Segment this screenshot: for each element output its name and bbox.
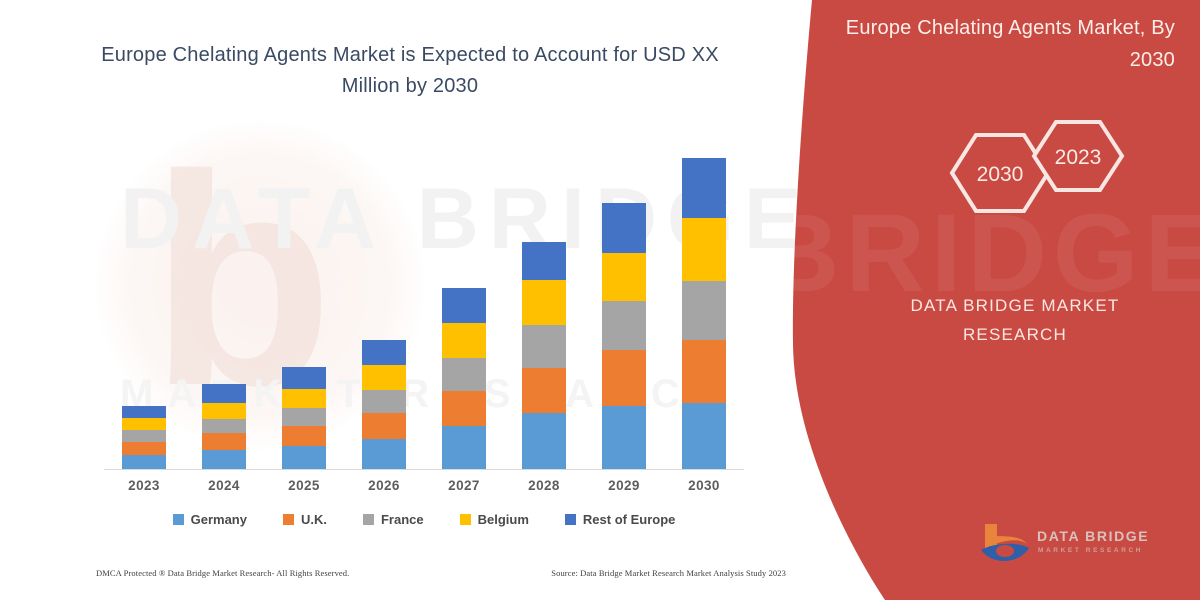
legend-item-germany[interactable]: Germany xyxy=(173,512,247,527)
bar-segment-belgium-2028 xyxy=(522,280,566,325)
legend-item-rest-of-europe[interactable]: Rest of Europe xyxy=(565,512,675,527)
bar-segment-rest-of-europe-2028 xyxy=(522,242,566,280)
legend-label: Germany xyxy=(191,512,247,527)
bar-segment-u-k--2027 xyxy=(442,391,486,426)
bar-segment-u-k--2030 xyxy=(682,340,726,403)
bar-segment-rest-of-europe-2023 xyxy=(122,406,166,418)
x-axis-tick-labels: 20232024202520262027202820292030 xyxy=(104,478,744,498)
bar-segment-rest-of-europe-2024 xyxy=(202,384,246,403)
bar-segment-belgium-2030 xyxy=(682,218,726,281)
bar-segment-belgium-2025 xyxy=(282,389,326,408)
bar-segment-rest-of-europe-2025 xyxy=(282,367,326,389)
bar-segment-france-2024 xyxy=(202,419,246,433)
bar-segment-belgium-2026 xyxy=(362,365,406,390)
hexagon-2023-label: 2023 xyxy=(1055,146,1102,169)
legend-swatch-icon xyxy=(565,514,576,525)
bar-segment-rest-of-europe-2027 xyxy=(442,288,486,323)
bar-segment-france-2028 xyxy=(522,325,566,368)
logo-tagline: MARKET RESEARCH xyxy=(1038,547,1143,554)
bar-segment-u-k--2026 xyxy=(362,413,406,439)
x-label-2025: 2025 xyxy=(269,478,339,493)
data-bridge-logo: DATA BRIDGE MARKET RESEARCH xyxy=(975,518,1190,576)
legend-label: U.K. xyxy=(301,512,327,527)
legend-label: Belgium xyxy=(478,512,529,527)
legend-item-belgium[interactable]: Belgium xyxy=(460,512,529,527)
infographic-canvas: b DATA BRIDGE MARKET RESEARCH Europe Che… xyxy=(0,0,1200,600)
bar-2029 xyxy=(602,203,646,469)
bar-segment-u-k--2025 xyxy=(282,426,326,446)
legend-swatch-icon xyxy=(460,514,471,525)
footer-source-text: Source: Data Bridge Market Research Mark… xyxy=(551,568,786,578)
legend-item-u-k-[interactable]: U.K. xyxy=(283,512,327,527)
bar-2027 xyxy=(442,288,486,469)
bar-segment-germany-2025 xyxy=(282,446,326,469)
bar-segment-belgium-2027 xyxy=(442,323,486,358)
panel-brand-line-2: RESEARCH xyxy=(850,321,1180,350)
bar-segment-germany-2023 xyxy=(122,455,166,469)
bar-segment-germany-2026 xyxy=(362,439,406,469)
bar-segment-germany-2028 xyxy=(522,413,566,469)
legend-swatch-icon xyxy=(173,514,184,525)
legend-swatch-icon xyxy=(283,514,294,525)
hexagon-year-badges: 2030 2023 xyxy=(930,118,1190,228)
chart-legend: GermanyU.K.FranceBelgiumRest of Europe xyxy=(104,512,744,527)
bar-segment-france-2027 xyxy=(442,358,486,391)
bar-segment-rest-of-europe-2026 xyxy=(362,340,406,365)
bar-segment-rest-of-europe-2029 xyxy=(602,203,646,253)
bar-segment-france-2026 xyxy=(362,390,406,413)
x-label-2030: 2030 xyxy=(669,478,739,493)
logo-wordmark: DATA BRIDGE xyxy=(1037,528,1149,544)
bar-segment-belgium-2024 xyxy=(202,403,246,419)
bar-segment-germany-2027 xyxy=(442,426,486,469)
bar-segment-u-k--2029 xyxy=(602,350,646,406)
footer: DMCA Protected ® Data Bridge Market Rese… xyxy=(96,568,786,578)
x-label-2028: 2028 xyxy=(509,478,579,493)
bar-segment-france-2030 xyxy=(682,281,726,340)
bar-segment-u-k--2024 xyxy=(202,433,246,450)
bar-2028 xyxy=(522,242,566,469)
bar-2030 xyxy=(682,158,726,469)
footer-dmca-text: DMCA Protected ® Data Bridge Market Rese… xyxy=(96,568,349,578)
bar-2026 xyxy=(362,340,406,469)
legend-label: Rest of Europe xyxy=(583,512,675,527)
chart-plot-area xyxy=(104,140,744,470)
bar-segment-belgium-2023 xyxy=(122,418,166,430)
bar-segment-germany-2030 xyxy=(682,403,726,469)
stacked-bar-chart xyxy=(104,140,744,470)
bar-2024 xyxy=(202,384,246,469)
x-label-2027: 2027 xyxy=(429,478,499,493)
legend-label: France xyxy=(381,512,424,527)
bar-segment-rest-of-europe-2030 xyxy=(682,158,726,218)
bar-segment-france-2029 xyxy=(602,301,646,350)
panel-brand-line-1: DATA BRIDGE MARKET xyxy=(850,292,1180,321)
bar-segment-germany-2029 xyxy=(602,406,646,469)
bar-segment-u-k--2023 xyxy=(122,442,166,455)
bar-segment-belgium-2029 xyxy=(602,253,646,301)
panel-title: Europe Chelating Agents Market, By 2030 xyxy=(820,12,1175,76)
bar-segment-germany-2024 xyxy=(202,450,246,469)
bar-segment-u-k--2028 xyxy=(522,368,566,413)
x-label-2024: 2024 xyxy=(189,478,259,493)
bar-segment-france-2023 xyxy=(122,430,166,442)
x-label-2029: 2029 xyxy=(589,478,659,493)
legend-item-france[interactable]: France xyxy=(363,512,424,527)
bar-2025 xyxy=(282,367,326,469)
bar-2023 xyxy=(122,406,166,469)
right-panel-content: BRIDGE Europe Chelating Agents Market, B… xyxy=(820,0,1200,600)
legend-swatch-icon xyxy=(363,514,374,525)
bar-segment-france-2025 xyxy=(282,408,326,426)
panel-brand: DATA BRIDGE MARKET RESEARCH xyxy=(850,292,1180,350)
hexagon-2030-label: 2030 xyxy=(977,163,1024,186)
data-bridge-logo-mark xyxy=(975,518,1035,574)
x-axis-line xyxy=(104,469,744,470)
x-label-2023: 2023 xyxy=(109,478,179,493)
x-label-2026: 2026 xyxy=(349,478,419,493)
chart-headline: Europe Chelating Agents Market is Expect… xyxy=(100,40,720,102)
